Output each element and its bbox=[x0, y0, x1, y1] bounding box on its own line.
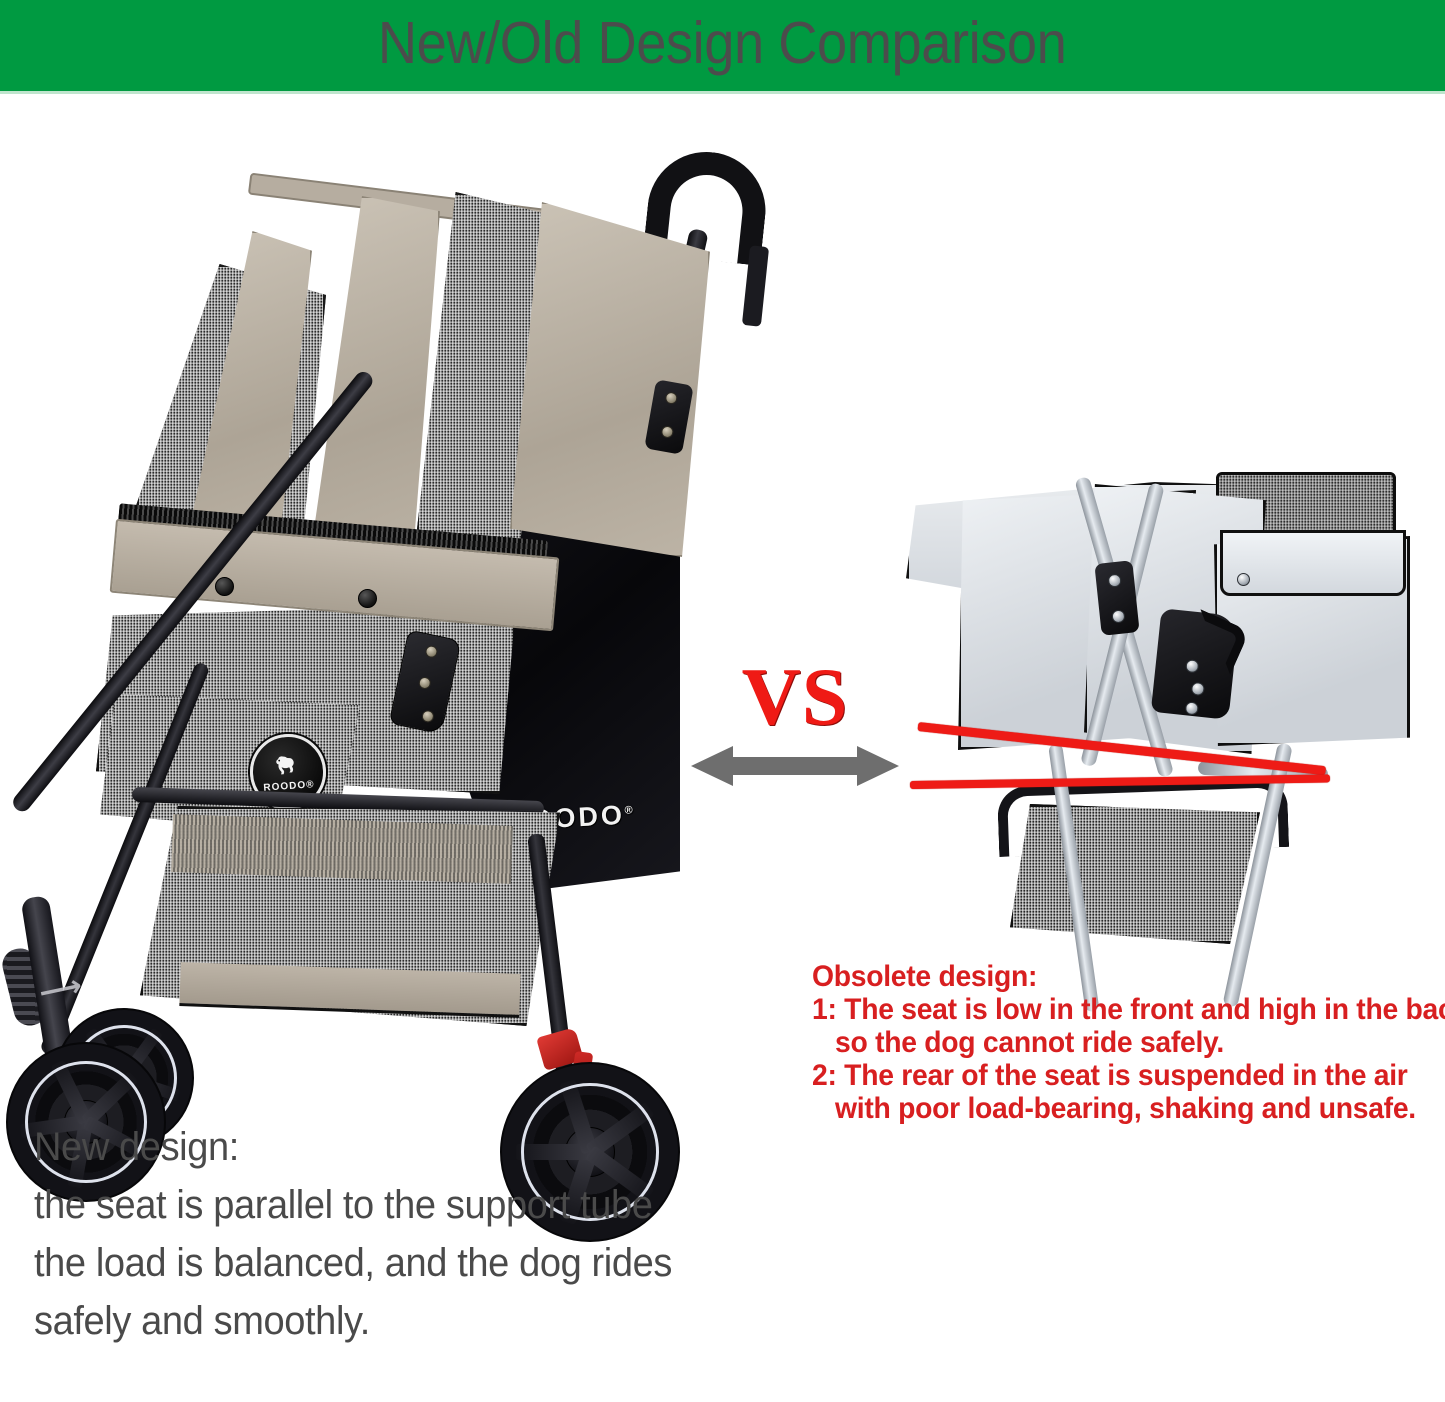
new-design-caption: New design: the seat is parallel to the … bbox=[34, 1118, 737, 1350]
old-design-stroller-image bbox=[898, 444, 1445, 1024]
new-design-stroller-image: ROODO® ROODO® ⟶ bbox=[0, 134, 700, 1164]
comparison-stage: ROODO® ROODO® ⟶ bbox=[0, 94, 1445, 1402]
snap-button bbox=[358, 589, 377, 608]
screw bbox=[1191, 682, 1205, 696]
double-arrow-icon bbox=[691, 744, 899, 788]
rivet bbox=[421, 709, 435, 723]
old-storage-basket bbox=[1010, 804, 1260, 944]
rivet bbox=[424, 645, 438, 659]
canopy-panel-3 bbox=[510, 202, 710, 557]
screw bbox=[1185, 701, 1199, 715]
page-title: New/Old Design Comparison bbox=[378, 14, 1066, 77]
header-banner: New/Old Design Comparison bbox=[0, 0, 1445, 91]
obsolete-design-caption-line-1: 1: The seat is low in the front and high… bbox=[812, 993, 1423, 1026]
snap-button bbox=[215, 577, 234, 596]
vs-comparison-marker: VS bbox=[690, 656, 900, 816]
rivet bbox=[660, 425, 674, 439]
vs-label: VS bbox=[690, 656, 900, 738]
new-design-caption-line-2: the load is balanced, and the dog rides bbox=[34, 1234, 737, 1292]
old-pocket-flap bbox=[1220, 530, 1406, 596]
obsolete-design-caption-line-3: 2: The rear of the seat is suspended in … bbox=[812, 1059, 1423, 1092]
obsolete-design-caption-line-2: so the dog cannot ride safely. bbox=[812, 1026, 1423, 1059]
new-design-caption-line-1: the seat is parallel to the support tube bbox=[34, 1176, 737, 1234]
rivet bbox=[664, 391, 678, 405]
screw bbox=[1111, 609, 1125, 623]
obsolete-design-caption: Obsolete design: 1: The seat is low in t… bbox=[812, 960, 1423, 1125]
obsolete-design-caption-line-4: with poor load-bearing, shaking and unsa… bbox=[812, 1092, 1423, 1125]
obsolete-design-caption-heading: Obsolete design: bbox=[812, 960, 1423, 993]
registered-mark: ® bbox=[624, 804, 636, 817]
snap-button bbox=[1237, 573, 1250, 586]
basket-band-top bbox=[171, 814, 513, 884]
old-frame-bracket bbox=[1094, 560, 1139, 636]
old-latch-hook bbox=[1151, 608, 1239, 720]
screw bbox=[1108, 574, 1122, 588]
dog-icon bbox=[272, 752, 304, 781]
new-design-caption-heading: New design: bbox=[34, 1118, 737, 1176]
screw bbox=[1185, 659, 1199, 673]
new-design-caption-line-3: safely and smoothly. bbox=[34, 1292, 737, 1350]
rivet bbox=[418, 676, 432, 690]
